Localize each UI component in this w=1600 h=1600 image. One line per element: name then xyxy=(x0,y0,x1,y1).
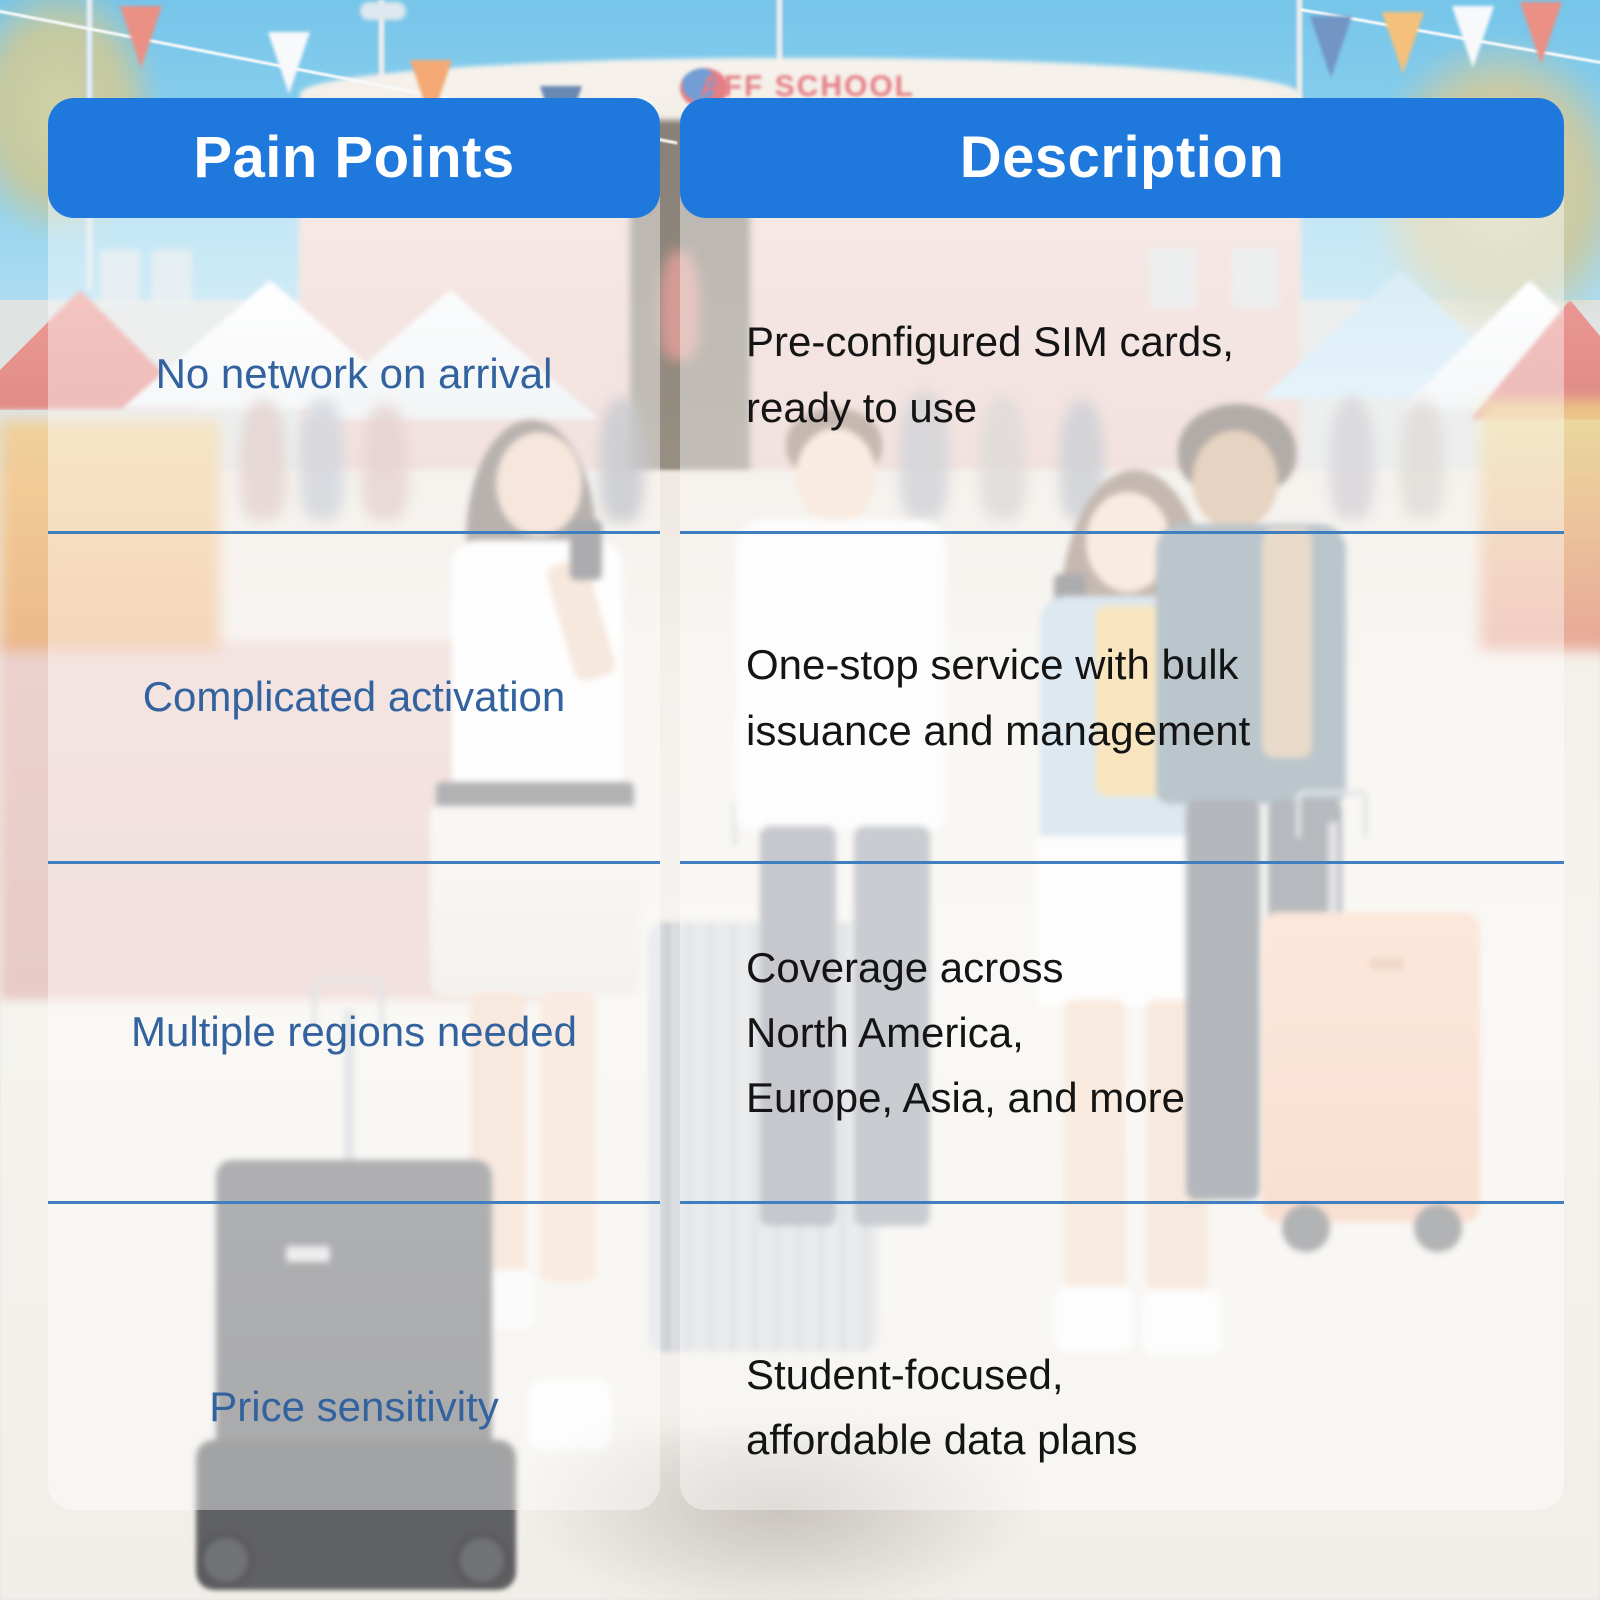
table-row[interactable]: Price sensitivity xyxy=(48,1204,660,1600)
description-cell: One-stop service with bulk issuance and … xyxy=(680,632,1564,762)
table-row[interactable]: No network on arrival xyxy=(48,218,660,534)
comparison-table: Pain Points No network on arrival Compli… xyxy=(0,0,1600,1600)
description-cell: Student-focused, affordable data plans xyxy=(680,1342,1564,1472)
pain-point-cell: Multiple regions needed xyxy=(48,1007,660,1057)
header-pain-points: Pain Points xyxy=(48,98,660,218)
pain-point-cell: Price sensitivity xyxy=(48,1382,660,1432)
table-row[interactable]: Pre-configured SIM cards, ready to use xyxy=(680,218,1564,534)
table-row[interactable]: One-stop service with bulk issuance and … xyxy=(680,534,1564,864)
column-pain-points: Pain Points No network on arrival Compli… xyxy=(48,98,660,1510)
description-cell: Coverage across North America, Europe, A… xyxy=(680,935,1564,1130)
description-cell: Pre-configured SIM cards, ready to use xyxy=(680,309,1564,439)
description-rows: Pre-configured SIM cards, ready to use O… xyxy=(680,218,1564,1510)
table-row[interactable]: Coverage across North America, Europe, A… xyxy=(680,864,1564,1204)
header-description-label: Description xyxy=(960,129,1285,187)
table-row[interactable]: Complicated activation xyxy=(48,534,660,864)
pain-point-cell: No network on arrival xyxy=(48,349,660,399)
header-description: Description xyxy=(680,98,1564,218)
pain-point-cell: Complicated activation xyxy=(48,672,660,722)
header-pain-points-label: Pain Points xyxy=(193,129,514,187)
table-row[interactable]: Student-focused, affordable data plans xyxy=(680,1204,1564,1600)
infographic-canvas: AFF SCHOOL xyxy=(0,0,1600,1600)
table-row[interactable]: Multiple regions needed xyxy=(48,864,660,1204)
pain-points-rows: No network on arrival Complicated activa… xyxy=(48,218,660,1510)
column-description: Description Pre-configured SIM cards, re… xyxy=(680,98,1564,1510)
